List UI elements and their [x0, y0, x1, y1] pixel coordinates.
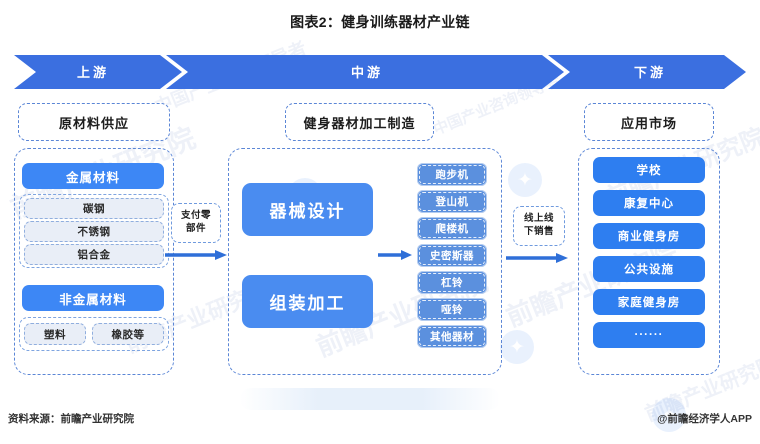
- midstream-equipment-smith-machine: 史密斯器: [417, 244, 487, 267]
- banner-label-upstream: 上游: [18, 62, 168, 81]
- connector-sales-line2: 下销售: [524, 226, 554, 239]
- upstream-group-nonmetal-header: 非金属材料: [22, 285, 164, 311]
- upstream-item-aluminum-alloy: 铝合金: [24, 244, 164, 265]
- downstream-market-others: ······: [593, 322, 705, 348]
- upstream-item-carbon-steel: 碳钢: [24, 198, 164, 219]
- downstream-market-public-facility: 公共设施: [593, 256, 705, 282]
- watermark-logo: ✦: [508, 163, 542, 197]
- chart-canvas: 前瞻产业研究院 前瞻产业研究院 前瞻产业研究院 前瞻产业研究院 前瞻产业研究院 …: [0, 0, 760, 444]
- connector-pay-parts-line2: 部件: [186, 223, 206, 236]
- midstream-process-design: 器械设计: [242, 183, 373, 236]
- page-title: 图表2：健身训练器材产业链: [0, 12, 760, 32]
- watermark-logo-glyph: ✦: [508, 163, 542, 197]
- upstream-group-metal-header: 金属材料: [22, 163, 164, 189]
- midstream-equipment-other: 其他器材: [417, 325, 487, 348]
- downstream-header: 应用市场: [584, 103, 714, 141]
- downstream-market-home-gym: 家庭健身房: [593, 289, 705, 315]
- midstream-equipment-barbell: 杠铃: [417, 271, 487, 294]
- midstream-equipment-stair-machine: 爬楼机: [417, 217, 487, 240]
- banner-label-downstream: 下游: [560, 62, 740, 81]
- watermark-band: [240, 388, 500, 410]
- banner-label-midstream: 中游: [182, 62, 552, 81]
- upstream-item-stainless-steel: 不锈钢: [24, 221, 164, 242]
- midstream-equipment-dumbbell: 哑铃: [417, 298, 487, 321]
- midstream-equipment-climber: 登山机: [417, 190, 487, 213]
- upstream-item-plastic: 塑料: [24, 323, 86, 345]
- source-note: 资料来源：前瞻产业研究院: [8, 411, 134, 426]
- app-credit: @前瞻经济学人APP: [657, 411, 752, 426]
- downstream-market-rehab-center: 康复中心: [593, 190, 705, 216]
- connector-pay-parts-label: 支付零 部件: [171, 203, 221, 243]
- watermark-logo-glyph: ✦: [500, 330, 534, 364]
- connector-sales-line1: 线上线: [524, 213, 554, 226]
- midstream-equipment-treadmill: 跑步机: [417, 163, 487, 186]
- arrow-right-icon: [165, 250, 227, 260]
- midstream-header: 健身器材加工制造: [285, 103, 434, 141]
- upstream-item-rubber: 橡胶等: [92, 323, 164, 345]
- connector-sales-label: 线上线 下销售: [513, 206, 565, 246]
- downstream-market-commercial-gym: 商业健身房: [593, 223, 705, 249]
- downstream-market-school: 学校: [593, 157, 705, 183]
- arrow-right-icon: [506, 253, 568, 263]
- watermark-logo: ✦: [500, 330, 534, 364]
- upstream-header: 原材料供应: [18, 103, 170, 141]
- midstream-process-assembly: 组装加工: [242, 275, 373, 328]
- arrow-right-icon: [378, 250, 412, 260]
- connector-pay-parts-line1: 支付零: [181, 210, 211, 223]
